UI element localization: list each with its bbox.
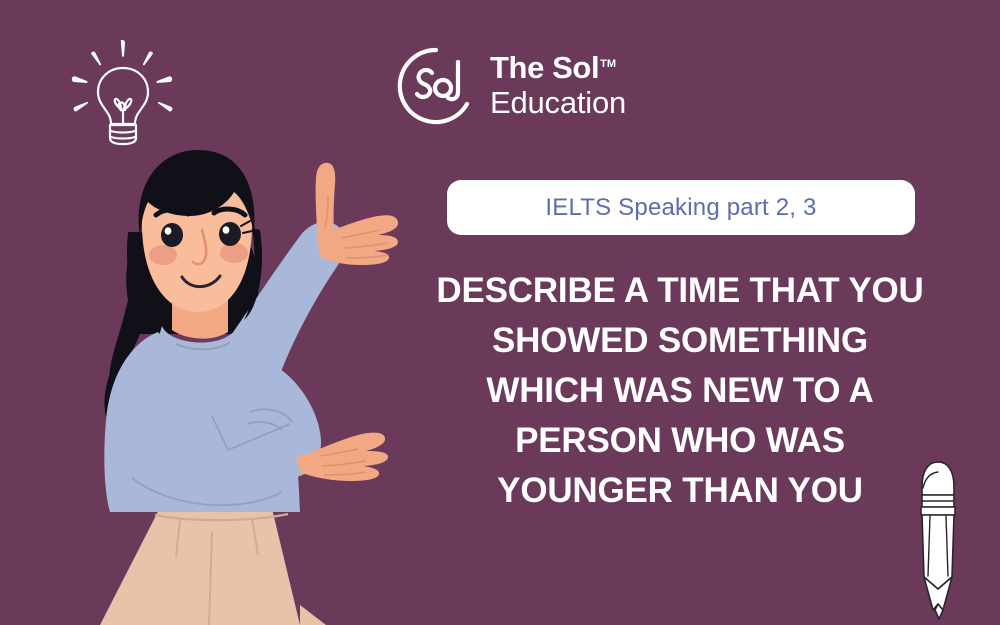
woman-presenting-illustration xyxy=(0,120,400,625)
brand-wordmark: The SolTM Education xyxy=(490,52,626,120)
headline-line-2: SHOWED SOMETHING xyxy=(430,316,930,366)
character-cheek-right xyxy=(220,243,248,263)
pencil-icon xyxy=(905,455,971,625)
brand-name-line1: The SolTM xyxy=(490,52,626,83)
brand-logo[interactable]: The SolTM Education xyxy=(396,46,626,126)
topic-banner-label: IELTS Speaking part 2, 3 xyxy=(545,194,816,222)
trademark-symbol: TM xyxy=(600,58,616,70)
headline-line-5: YOUNGER THAN YOU xyxy=(430,466,930,516)
headline-line-4: PERSON WHO WAS xyxy=(430,416,930,466)
headline-line-1: DESCRIBE A TIME THAT YOU xyxy=(430,266,930,316)
headline-line-3: WHICH WAS NEW TO A xyxy=(430,366,930,416)
headline: DESCRIBE A TIME THAT YOU SHOWED SOMETHIN… xyxy=(430,266,930,516)
poster-canvas: The SolTM Education xyxy=(0,0,1000,625)
character-cheek-left xyxy=(149,245,177,265)
sol-circle-logo-icon xyxy=(396,46,476,126)
brand-name-line2: Education xyxy=(490,87,626,118)
topic-banner: IELTS Speaking part 2, 3 xyxy=(447,180,915,235)
